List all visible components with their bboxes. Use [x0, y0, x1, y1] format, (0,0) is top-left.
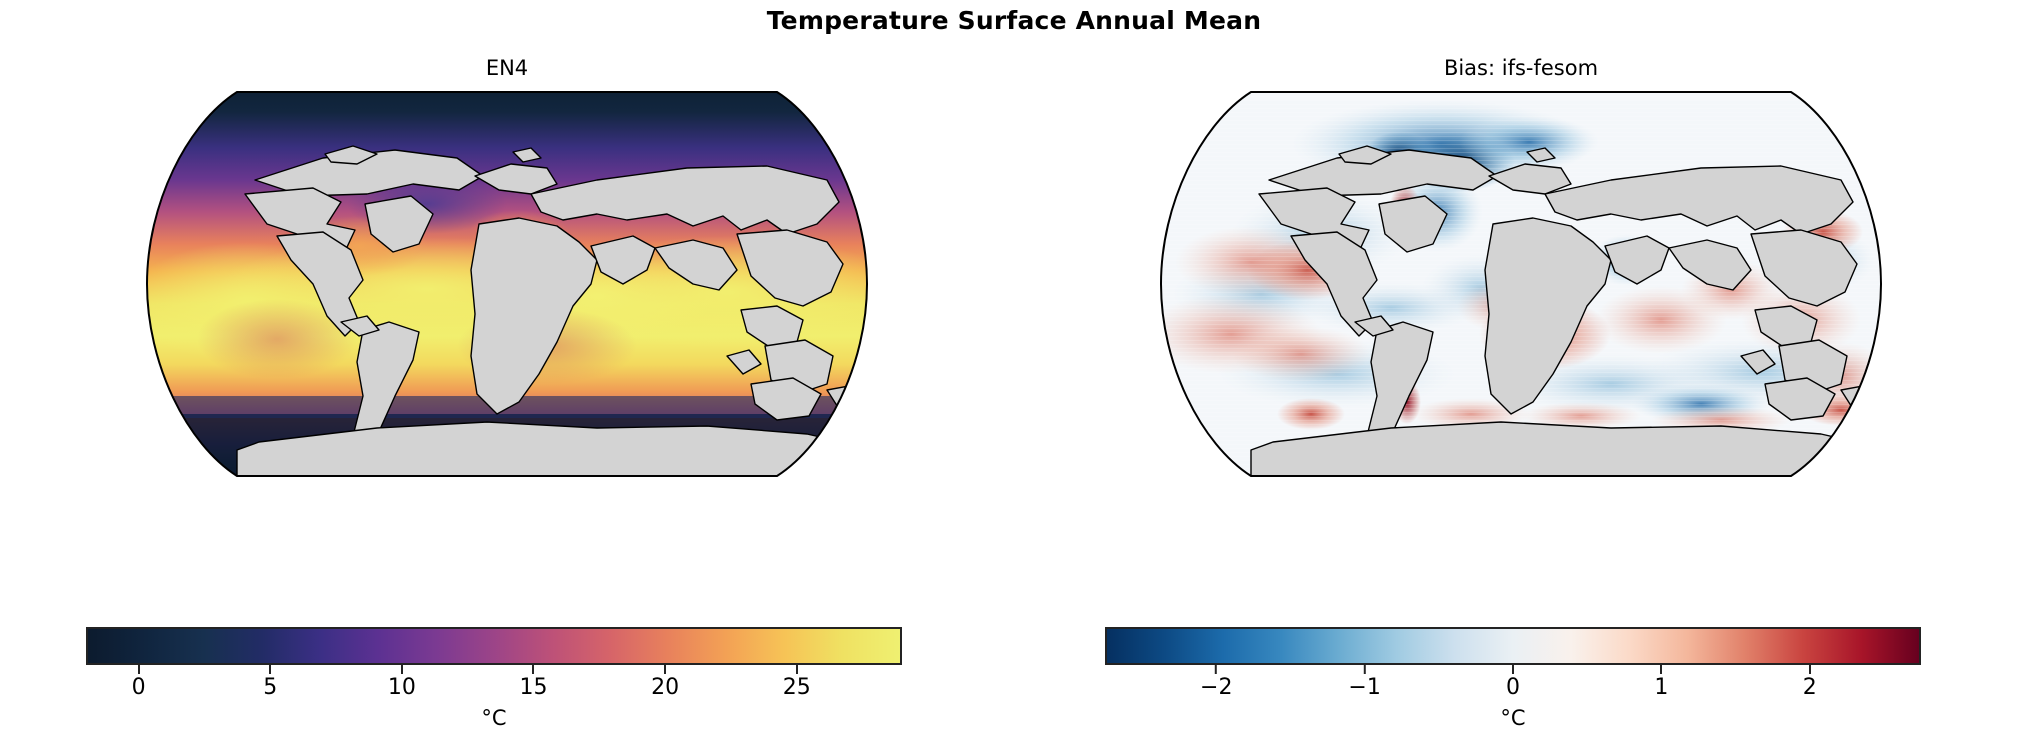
- colorbar-tick-label: 25: [783, 676, 811, 700]
- colorbar-ifs-fesom-label: °C: [1105, 706, 1921, 730]
- map-ifs-fesom: [1141, 84, 1901, 484]
- colorbar-en4-gradient: [88, 629, 900, 663]
- colorbar-tick-label: 15: [519, 676, 547, 700]
- colorbar-tick-label: −2: [1200, 676, 1232, 700]
- colorbar-tick-mark: [1364, 665, 1366, 674]
- colorbar-tick-mark: [796, 665, 798, 674]
- colorbar-tick-mark: [401, 665, 403, 674]
- colorbar-ifs-fesom-ticks: −2−1012: [1105, 665, 1921, 705]
- colorbar-tick: 2: [1803, 665, 1817, 700]
- colorbar-tick-mark: [664, 665, 666, 674]
- colorbar-en4-label: °C: [86, 706, 902, 730]
- colorbar-ifs-fesom: [1105, 627, 1921, 665]
- colorbar-tick-mark: [532, 665, 534, 674]
- figure-canvas: Temperature Surface Annual Mean EN4: [0, 0, 2028, 746]
- colorbar-tick: 5: [263, 665, 277, 700]
- map-ifs-fesom-svg: [1141, 84, 1901, 484]
- panel-title-ifs-fesom: Bias: ifs-fesom: [1014, 56, 2028, 80]
- colorbar-tick: 1: [1654, 665, 1668, 700]
- colorbar-en4-ticks: 0510152025: [86, 665, 902, 705]
- map-en4-svg: [127, 84, 887, 484]
- map-en4: [127, 84, 887, 484]
- colorbar-tick-mark: [1512, 665, 1514, 674]
- colorbar-en4: [86, 627, 902, 665]
- panel-en4: EN4: [0, 52, 1014, 612]
- colorbar-ifs-fesom-gradient: [1107, 629, 1919, 663]
- colorbar-tick: −1: [1348, 665, 1380, 700]
- colorbar-tick: 0: [132, 665, 146, 700]
- colorbar-tick-label: −1: [1348, 676, 1380, 700]
- colorbar-tick-mark: [1215, 665, 1217, 674]
- panel-ifs-fesom: Bias: ifs-fesom: [1014, 52, 2028, 612]
- colorbar-tick-label: 2: [1803, 676, 1817, 700]
- panel-title-en4: EN4: [0, 56, 1014, 80]
- colorbar-tick-label: 10: [388, 676, 416, 700]
- colorbar-tick-label: 0: [132, 676, 146, 700]
- colorbar-tick-label: 1: [1654, 676, 1668, 700]
- colorbar-tick: 20: [651, 665, 679, 700]
- colorbar-tick: 0: [1506, 665, 1520, 700]
- colorbar-tick-label: 5: [263, 676, 277, 700]
- colorbar-tick-mark: [1660, 665, 1662, 674]
- colorbar-tick-label: 20: [651, 676, 679, 700]
- colorbar-tick: 25: [783, 665, 811, 700]
- colorbar-tick-mark: [138, 665, 140, 674]
- colorbar-tick: −2: [1200, 665, 1232, 700]
- colorbar-tick: 15: [519, 665, 547, 700]
- colorbar-tick-mark: [1809, 665, 1811, 674]
- colorbar-tick: 10: [388, 665, 416, 700]
- figure-suptitle: Temperature Surface Annual Mean: [0, 6, 2028, 35]
- colorbar-tick-mark: [269, 665, 271, 674]
- colorbar-tick-label: 0: [1506, 676, 1520, 700]
